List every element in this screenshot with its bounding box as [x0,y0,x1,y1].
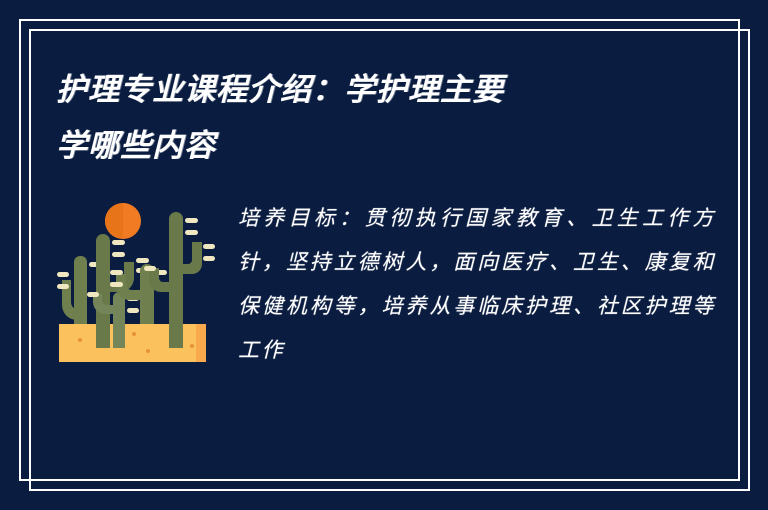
sand-ground [59,324,206,362]
title-line-1: 护理专业课程介绍：学护理主要 [56,62,696,118]
page-title: 护理专业课程介绍：学护理主要 学哪些内容 [56,62,696,174]
body-paragraph: 培养目标：贯彻执行国家教育、卫生工作方针，坚持立德树人，面向医疗、卫生、康复和保… [238,196,716,372]
sun-icon [105,203,141,239]
content-row: 培养目标：贯彻执行国家教育、卫生工作方针，坚持立德树人，面向医疗、卫生、康复和保… [56,196,716,372]
desert-cactus-illustration [56,196,216,364]
title-line-2: 学哪些内容 [56,118,696,174]
poster-canvas: 护理专业课程介绍：学护理主要 学哪些内容 [0,0,768,510]
